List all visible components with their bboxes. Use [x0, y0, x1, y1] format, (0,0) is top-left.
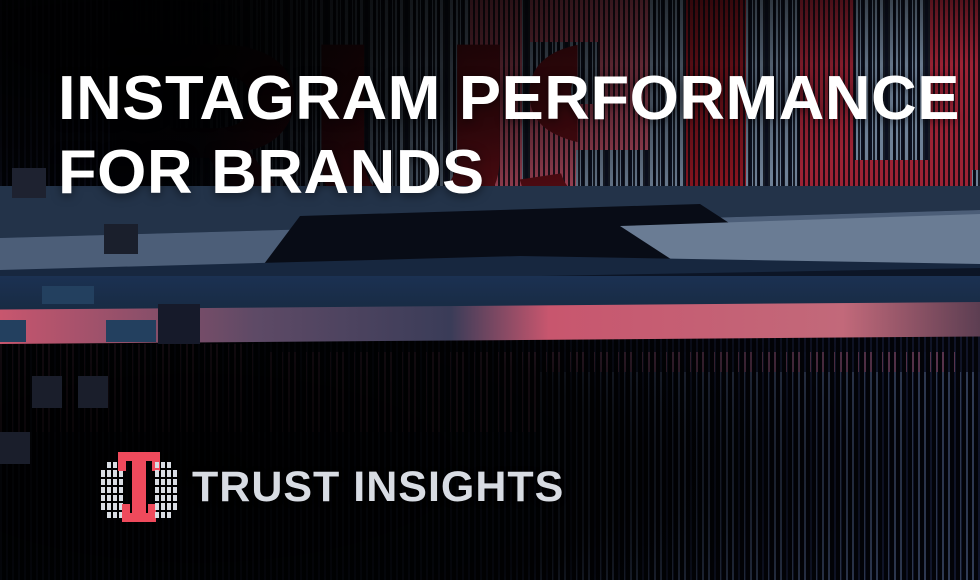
logo-dot	[161, 503, 165, 509]
logo-dot	[101, 503, 105, 509]
logo-dot	[167, 503, 171, 509]
logo-dot	[155, 503, 159, 509]
decorative-block	[0, 320, 26, 342]
logo-t-glyph	[118, 452, 160, 522]
logo-dot	[161, 462, 165, 468]
logo-dot	[155, 487, 159, 493]
brand-logo: TRUST INSIGHTS	[100, 448, 564, 526]
logo-dot	[167, 479, 171, 485]
logo-dot	[101, 487, 105, 493]
logo-dot	[101, 495, 105, 501]
decorative-block	[12, 168, 46, 198]
logo-dot	[167, 470, 171, 476]
logo-dot	[161, 487, 165, 493]
logo-dot	[107, 470, 111, 476]
logo-dot	[173, 512, 177, 518]
logo-dot	[101, 479, 105, 485]
logo-dot	[155, 470, 159, 476]
decorative-block	[104, 224, 138, 254]
logo-dot	[161, 470, 165, 476]
logo-dot	[155, 462, 159, 468]
decorative-block	[32, 376, 62, 408]
title-line-1: INSTAGRAM PERFORMANCE	[58, 62, 854, 136]
logo-dot	[107, 503, 111, 509]
logo-dot-matrix-right	[155, 462, 177, 518]
logo-dot	[113, 503, 117, 509]
decorative-block	[106, 320, 156, 342]
decorative-block	[42, 286, 94, 304]
logo-dot	[173, 462, 177, 468]
logo-dot	[113, 512, 117, 518]
logo-dot	[107, 512, 111, 518]
logo-dot	[155, 479, 159, 485]
logo-dot	[167, 487, 171, 493]
logo-dot	[161, 495, 165, 501]
logo-dot	[173, 487, 177, 493]
logo-dot	[113, 462, 117, 468]
logo-dot	[113, 487, 117, 493]
logo-dot	[101, 462, 105, 468]
logo-dot	[101, 470, 105, 476]
logo-dot	[161, 512, 165, 518]
logo-dot	[101, 512, 105, 518]
logo-dot	[107, 495, 111, 501]
decorative-block	[78, 376, 108, 408]
logo-dot	[173, 495, 177, 501]
logo-dot	[155, 512, 159, 518]
logo-dot	[113, 495, 117, 501]
logo-dot	[113, 479, 117, 485]
logo-dot	[155, 495, 159, 501]
logo-wordmark: TRUST INSIGHTS	[192, 464, 564, 510]
title-line-2: FOR BRANDS	[58, 136, 854, 210]
logo-dot	[107, 487, 111, 493]
logo-dot	[113, 470, 117, 476]
logo-dot	[107, 462, 111, 468]
logo-dot	[167, 512, 171, 518]
logo-dot	[173, 479, 177, 485]
logo-dot	[173, 470, 177, 476]
logo-dot	[161, 479, 165, 485]
logo-dot	[107, 479, 111, 485]
decorative-block	[0, 432, 30, 464]
decorative-block	[158, 304, 200, 344]
presentation-slide: RUSTINSIG INSTAGRAM PERFORMANCE FOR BRAN…	[0, 0, 980, 580]
logo-dot	[167, 462, 171, 468]
logo-dot	[173, 503, 177, 509]
trust-insights-t-mark-icon	[100, 448, 178, 526]
page-title: INSTAGRAM PERFORMANCE FOR BRANDS	[58, 62, 854, 210]
logo-dot	[167, 495, 171, 501]
